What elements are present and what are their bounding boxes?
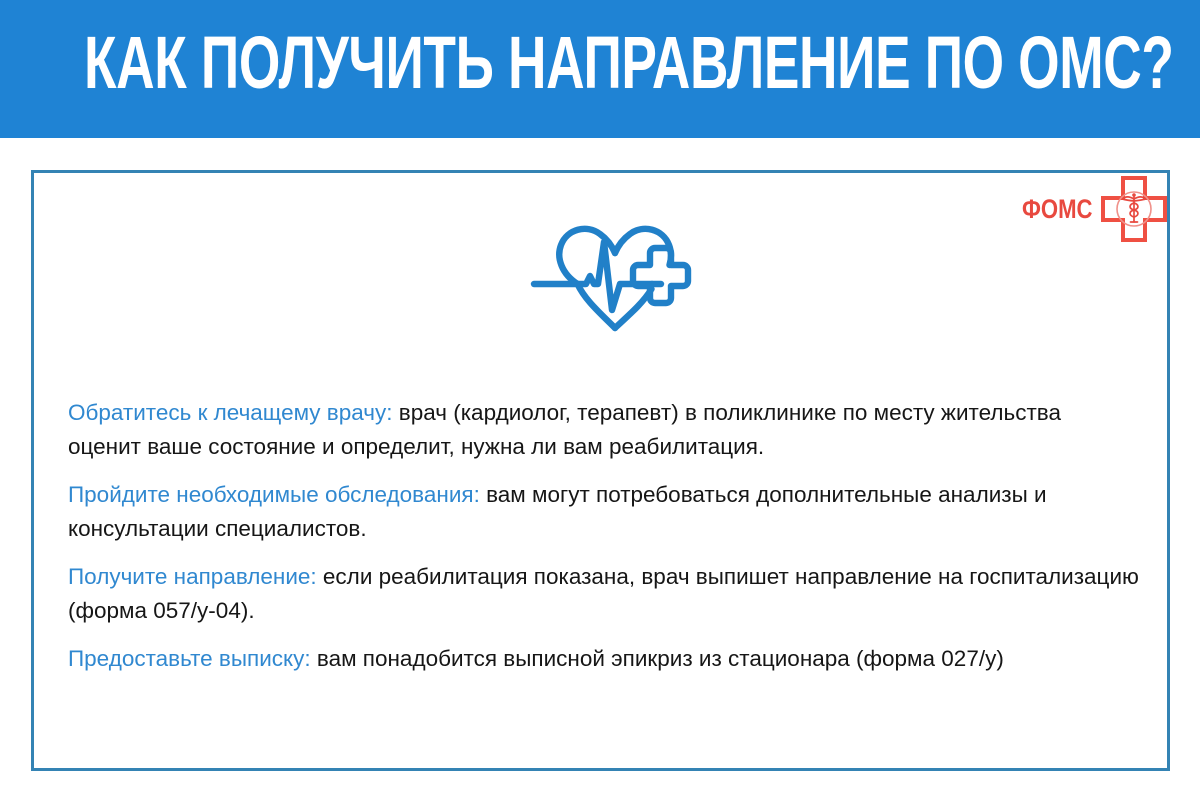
medical-cross-caduceus-icon bbox=[1101, 176, 1167, 242]
step-item: Обратитесь к лечащему врачу: врач (карди… bbox=[68, 396, 1140, 463]
foms-logo-text: ФОМС bbox=[1022, 196, 1093, 223]
step-body: вам понадобится выписной эпикриз из стац… bbox=[311, 646, 1004, 671]
foms-logo: ФОМС bbox=[1022, 172, 1172, 246]
header-band: КАК ПОЛУЧИТЬ НАПРАВЛЕНИЕ ПО ОМС? bbox=[0, 0, 1200, 138]
infographic-poster: КАК ПОЛУЧИТЬ НАПРАВЛЕНИЕ ПО ОМС? bbox=[0, 0, 1200, 800]
page-title: КАК ПОЛУЧИТЬ НАПРАВЛЕНИЕ ПО ОМС? bbox=[84, 24, 847, 104]
heart-with-ecg-and-cross-icon bbox=[528, 212, 708, 336]
step-item: Предоставьте выписку: вам понадобится вы… bbox=[68, 642, 1140, 676]
step-lead: Пройдите необходимые обследования: bbox=[68, 482, 480, 507]
step-item: Пройдите необходимые обследования: вам м… bbox=[68, 478, 1140, 545]
step-item: Получите направление: если реабилитация … bbox=[68, 560, 1140, 627]
step-lead: Предоставьте выписку: bbox=[68, 646, 311, 671]
step-lead: Обратитесь к лечащему врачу: bbox=[68, 400, 393, 425]
steps-list: Обратитесь к лечащему врачу: врач (карди… bbox=[68, 396, 1140, 676]
step-lead: Получите направление: bbox=[68, 564, 317, 589]
